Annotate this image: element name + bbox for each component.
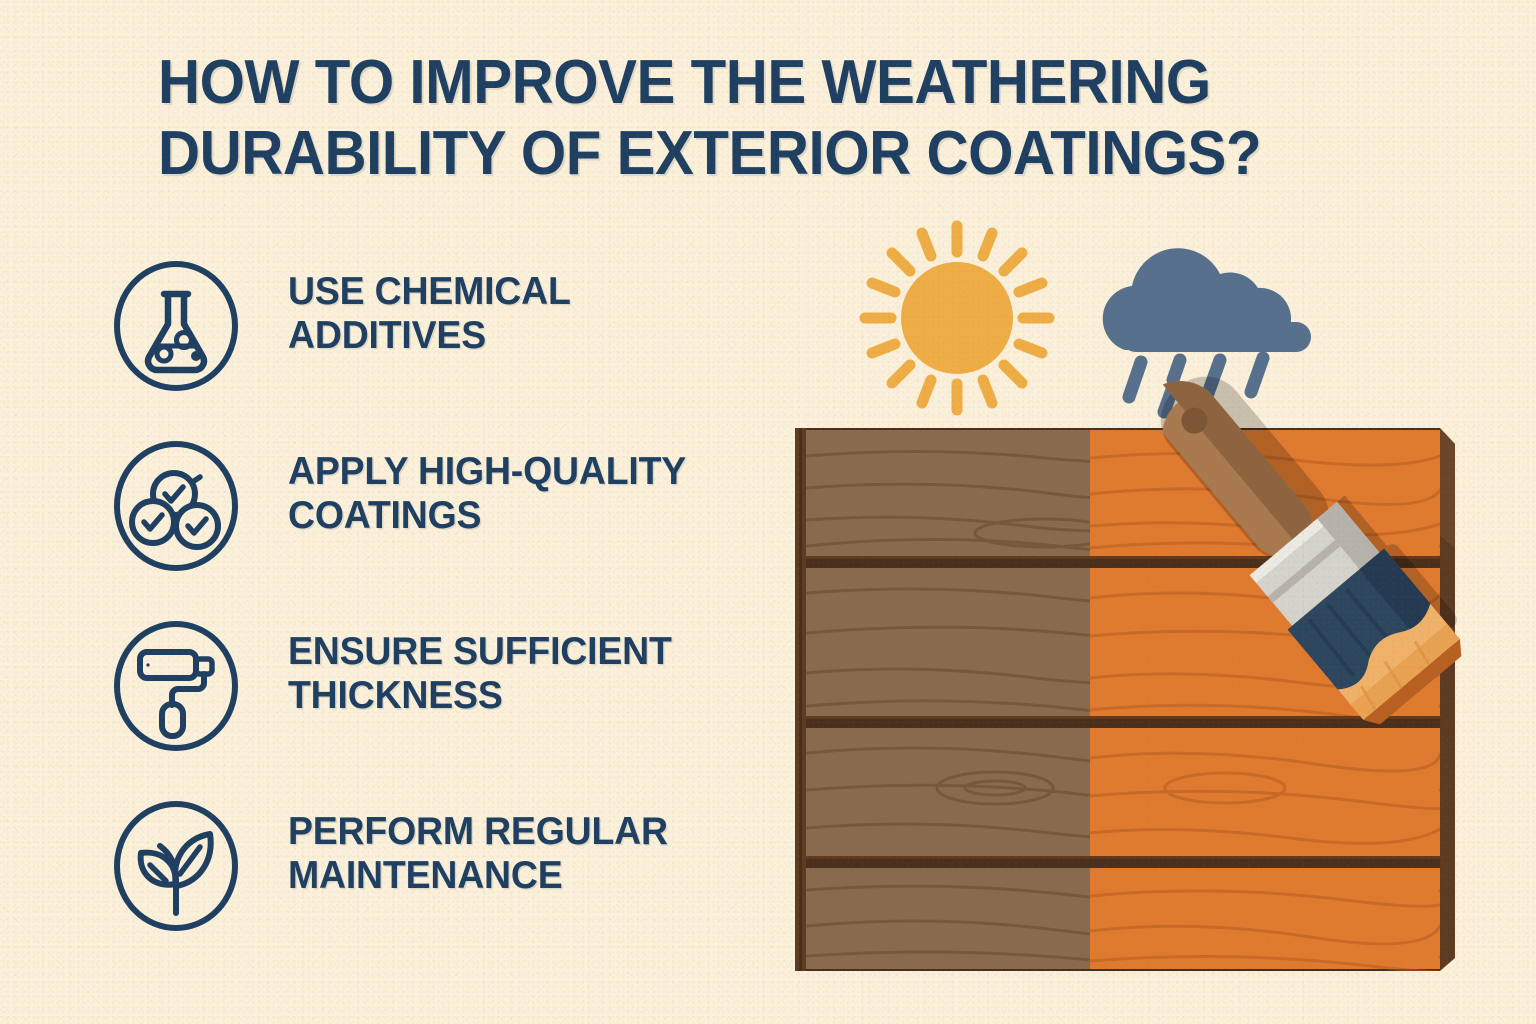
tips-list: USE CHEMICAL ADDITIVES APPLY HIGH-QUALIT… [112, 258, 792, 978]
list-item[interactable]: ENSURE SUFFICIENT THICKNESS [112, 618, 792, 798]
list-item[interactable]: APPLY HIGH-QUALITY COATINGS [112, 438, 792, 618]
list-item[interactable]: USE CHEMICAL ADDITIVES [112, 258, 792, 438]
leaf-sprout-icon [112, 800, 240, 932]
paint-roller-icon [112, 620, 240, 752]
sun-icon [852, 218, 1062, 418]
list-item[interactable]: PERFORM REGULAR MAINTENANCE [112, 798, 792, 978]
list-item-label: PERFORM REGULAR MAINTENANCE [288, 810, 772, 899]
list-item-label: USE CHEMICAL ADDITIVES [288, 270, 772, 359]
infographic-canvas: HOW TO IMPROVE THE WEATHERING DURABILITY… [0, 0, 1536, 1024]
quality-check-badges-icon [112, 440, 240, 572]
paint-brush [1118, 330, 1468, 740]
list-item-label: APPLY HIGH-QUALITY COATINGS [288, 450, 772, 539]
list-item-label: ENSURE SUFFICIENT THICKNESS [288, 630, 772, 719]
flask-icon [112, 260, 240, 392]
page-title: HOW TO IMPROVE THE WEATHERING DURABILITY… [158, 48, 1371, 189]
